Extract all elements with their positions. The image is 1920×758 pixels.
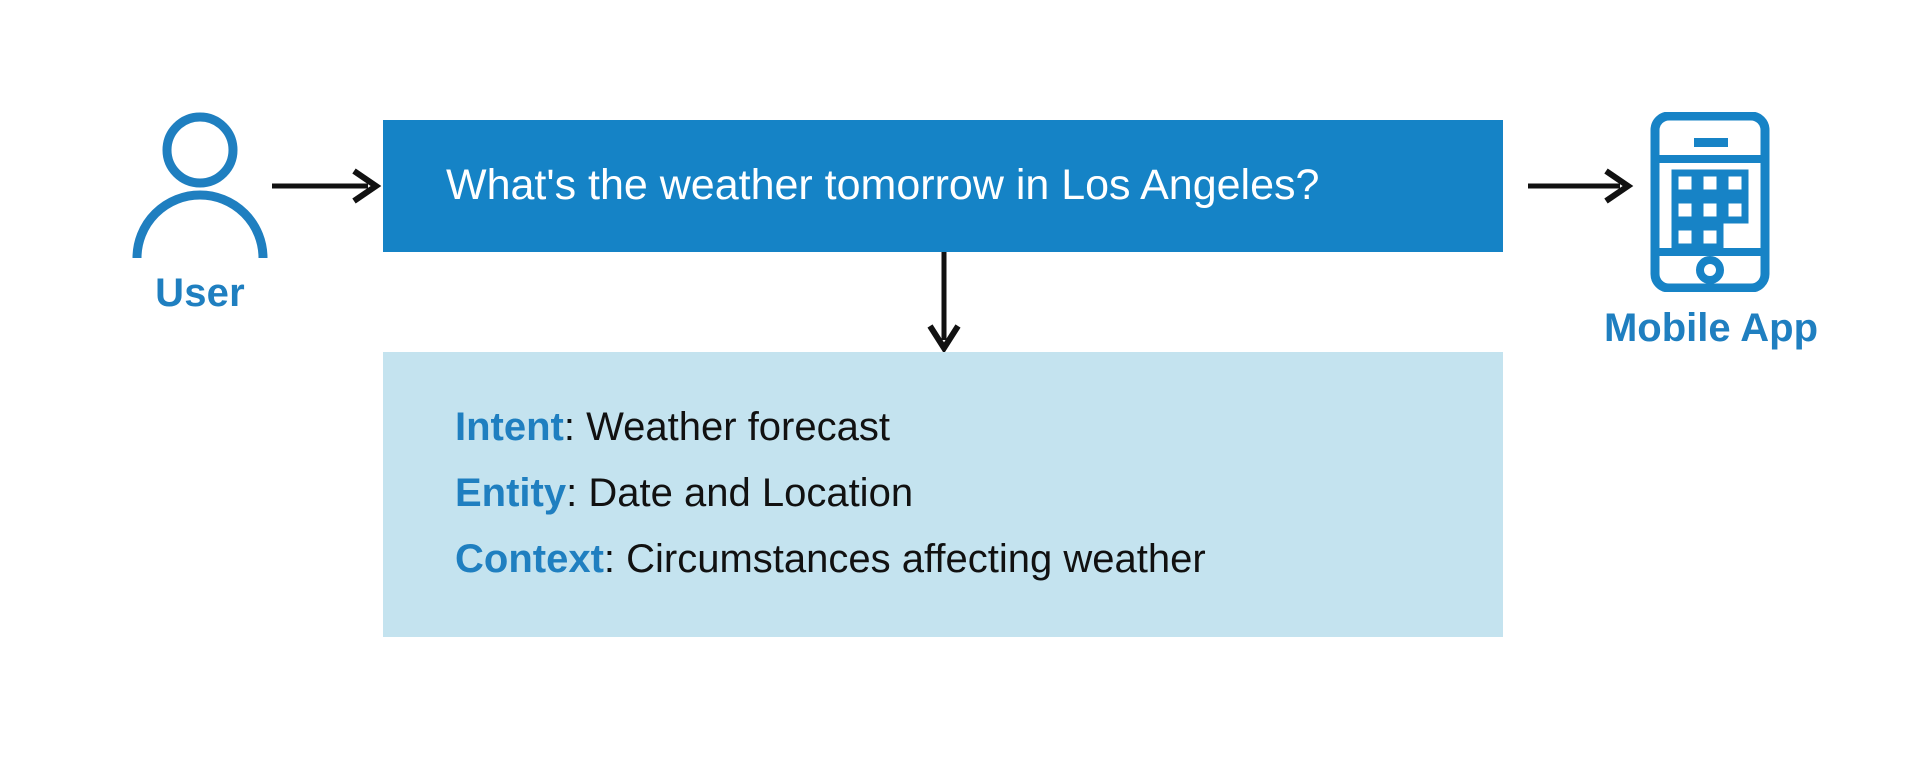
user-utterance-text: What's the weather tomorrow in Los Angel… <box>446 162 1319 209</box>
nlu-line-context: Context: Circumstances affecting weather <box>455 526 1503 592</box>
user-label: User <box>120 273 280 313</box>
nlu-separator-intent: : <box>564 405 575 449</box>
mobile-phone-icon <box>1650 112 1770 292</box>
arrow-down-icon-utterance-to-nlu <box>922 252 966 352</box>
mobile-app-label: Mobile App <box>1576 308 1846 348</box>
diagram-canvas: User What's the weather tomorrow in Los … <box>0 0 1920 758</box>
nlu-key-intent: Intent <box>455 405 564 449</box>
user-icon <box>130 110 270 260</box>
nlu-key-entity: Entity <box>455 471 566 515</box>
arrow-right-icon-user-to-utterance <box>272 166 382 206</box>
user-utterance-box: What's the weather tomorrow in Los Angel… <box>383 120 1503 252</box>
nlu-separator-context: : <box>604 537 615 581</box>
user-actor: User <box>120 110 280 350</box>
nlu-value-entity: Date and Location <box>588 471 913 515</box>
nlu-line-entity: Entity: Date and Location <box>455 460 1503 526</box>
nlu-analysis-box: Intent: Weather forecast Entity: Date an… <box>383 352 1503 637</box>
mobile-app-actor: Mobile App <box>1576 112 1846 362</box>
nlu-value-intent: Weather forecast <box>586 405 890 449</box>
nlu-value-context: Circumstances affecting weather <box>626 537 1206 581</box>
nlu-separator-entity: : <box>566 471 577 515</box>
nlu-key-context: Context <box>455 537 604 581</box>
nlu-line-intent: Intent: Weather forecast <box>455 394 1503 460</box>
